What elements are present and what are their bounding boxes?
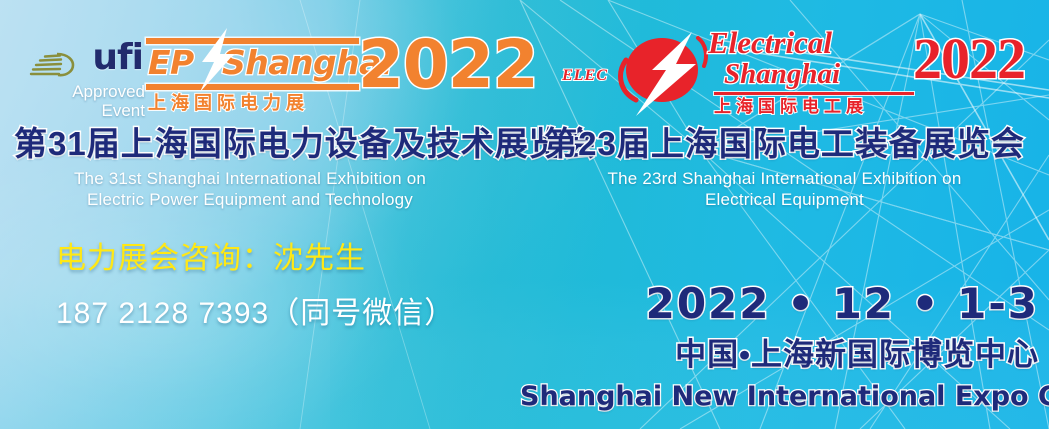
electrical-shanghai-rule (714, 92, 914, 95)
electrical-shanghai-line2: Shanghai (724, 59, 918, 90)
event-venue-english: Shanghai New International Expo Centre, … (520, 380, 1039, 414)
lightning-bolt-icon (194, 28, 240, 92)
ufi-approved-label: Approved (27, 82, 145, 101)
ep-logo-year: 2022 (358, 30, 538, 100)
elec-badge-label: ELEC (540, 67, 630, 85)
electrical-shanghai-chinese: 上海国际电工展 (714, 96, 919, 118)
left-title-english-line1: The 31st Shanghai International Exhibiti… (0, 168, 500, 189)
exhibition-banner: ufi Approved Event EP Shanghai 上海国际电力展 2… (0, 0, 1049, 429)
right-exhibition-block: ELEC Electrical Shanghai 上海国际电工展 2022 第2… (520, 0, 1049, 429)
right-title-english-line2: Electrical Equipment (520, 189, 1049, 210)
ufi-logo-top: ufi (27, 42, 145, 82)
left-title-chinese: 第31届上海国际电力设备及技术展览会 (14, 124, 597, 164)
right-title-chinese: 第23届上海国际电工装备展览会 (520, 124, 1049, 164)
ep-logo-bar-bottom (146, 84, 359, 90)
ep-shanghai-logo: EP Shanghai 上海国际电力展 (146, 34, 361, 116)
ufi-wordmark: ufi (92, 40, 143, 76)
right-title-english-line1: The 23rd Shanghai International Exhibiti… (520, 168, 1049, 189)
event-date: 2022 • 12 • 1-3 (520, 279, 1039, 329)
contact-label: 电力展会咨询：沈先生 (56, 240, 366, 278)
electrical-shanghai-line1: Electrical (708, 26, 918, 59)
event-venue-chinese: 中国•上海新国际博览中心 (520, 336, 1039, 374)
ep-logo-chinese-text: 上海国际电力展 (148, 92, 361, 114)
electrical-shanghai-logo: Electrical Shanghai 上海国际电工展 (708, 26, 918, 90)
left-exhibition-block: ufi Approved Event EP Shanghai 上海国际电力展 2… (0, 0, 520, 429)
ufi-event-label: Event (27, 101, 145, 120)
ufi-approved-event-logo: ufi Approved Event (27, 42, 145, 122)
electrical-shanghai-year: 2022 (913, 28, 1025, 90)
left-title-english-line2: Electric Power Equipment and Technology (0, 189, 500, 210)
contact-phone: 187 2128 7393（同号微信） (56, 295, 455, 333)
ufi-wing-icon (29, 52, 77, 78)
